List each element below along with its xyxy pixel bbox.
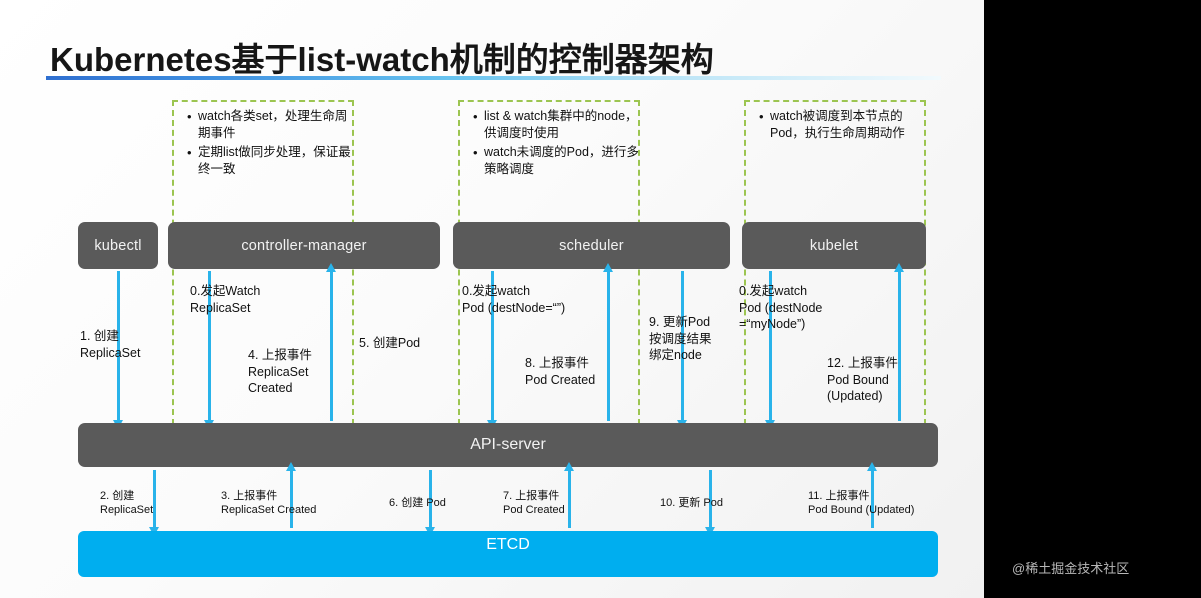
arrow-etcd-to-api-pod-created <box>568 470 571 528</box>
arrow-api-to-kubelet-event <box>898 271 901 421</box>
title-underline-rule <box>46 76 941 80</box>
label-step-9-update-pod-bind-node: 9. 更新Pod 按调度结果 绑定node <box>649 314 712 364</box>
watermark: @稀土掘金技术社区 <box>1012 558 1129 577</box>
right-black-pane <box>984 0 1201 598</box>
label-step-6-create-pod: 6. 创建 Pod <box>389 496 446 510</box>
page-title: Kubernetes基于list-watch机制的控制器架构 <box>50 33 714 81</box>
lane-note-bullet: 定期list做同步处理，保证最终一致 <box>198 144 354 178</box>
lane-note-bullet: list & watch集群中的node，供调度时使用 <box>484 108 640 142</box>
label-step-2-create-replicaset: 2. 创建 ReplicaSet <box>100 489 153 517</box>
label-step-7-report-pod-created: 7. 上报事件 Pod Created <box>503 489 565 517</box>
slide-canvas: Kubernetes基于list-watch机制的控制器架构 watch各类se… <box>0 0 984 598</box>
label-step-8-report-pod-created: 8. 上报事件 Pod Created <box>525 355 595 388</box>
label-step-3-report-replicaset-created: 3. 上报事件 ReplicaSet Created <box>221 489 316 517</box>
component-etcd[interactable]: ETCD <box>78 531 938 577</box>
arrow-api-to-etcd-create-replicaset <box>153 470 156 528</box>
component-api-server[interactable]: API-server <box>78 423 938 467</box>
lane-note-controller-manager: watch各类set，处理生命周期事件 定期list做同步处理，保证最终一致 <box>184 108 354 180</box>
lane-note-bullet: watch各类set，处理生命周期事件 <box>198 108 354 142</box>
label-step-4-report-replicaset-created: 4. 上报事件 ReplicaSet Created <box>248 347 312 397</box>
component-scheduler[interactable]: scheduler <box>453 222 730 269</box>
lane-note-kubelet: watch被调度到本节点的Pod，执行生命周期动作 <box>756 108 926 144</box>
label-step-10-update-pod: 10. 更新 Pod <box>660 496 723 510</box>
arrow-api-to-cm-event <box>330 271 333 421</box>
lane-note-bullet: watch被调度到本节点的Pod，执行生命周期动作 <box>770 108 926 142</box>
label-step-0-watch-pod-empty-node: 0.发起watch Pod (destNode=“”) <box>462 283 565 316</box>
label-step-12-report-pod-bound: 12. 上报事件 Pod Bound (Updated) <box>827 355 898 405</box>
lane-note-scheduler: list & watch集群中的node，供调度时使用 watch未调度的Pod… <box>470 108 640 180</box>
label-step-0-watch-replicaset: 0.发起Watch ReplicaSet <box>190 283 260 316</box>
label-step-5-create-pod: 5. 创建Pod <box>359 335 420 352</box>
component-controller-manager[interactable]: controller-manager <box>168 222 440 269</box>
lane-note-bullet: watch未调度的Pod，进行多策略调度 <box>484 144 640 178</box>
label-step-11-report-pod-bound: 11. 上报事件 Pod Bound (Updated) <box>808 489 914 517</box>
label-step-1-create-replicaset: 1. 创建 ReplicaSet <box>80 328 140 361</box>
arrow-api-to-scheduler-event <box>607 271 610 421</box>
label-step-0-watch-pod-mynode: 0.发起watch Pod (destNode =“myNode”) <box>739 283 822 333</box>
component-kubectl[interactable]: kubectl <box>78 222 158 269</box>
component-kubelet[interactable]: kubelet <box>742 222 926 269</box>
